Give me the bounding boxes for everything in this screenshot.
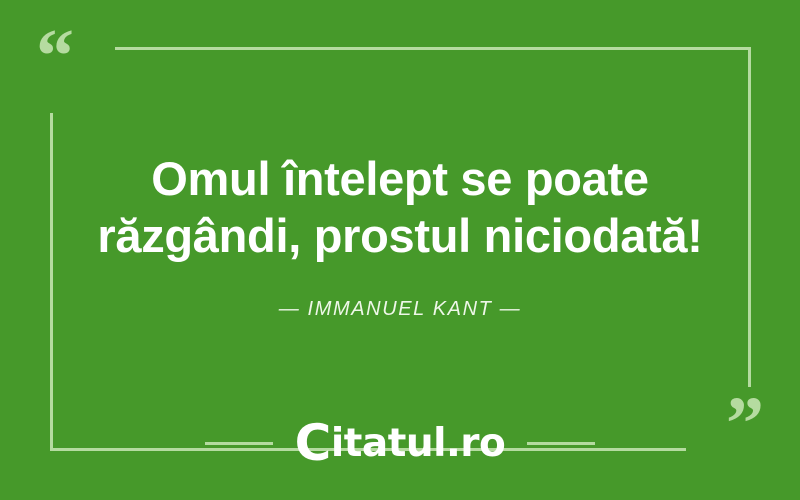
logo-rule-left [205, 442, 273, 445]
frame-top-line [115, 47, 751, 50]
quote-author: — IMMANUEL KANT — [80, 265, 720, 321]
quote-body: Omul întelept se poate răzgândi, prostul… [80, 150, 720, 321]
quote-text: Omul întelept se poate răzgândi, prostul… [80, 150, 720, 265]
frame-right-line [748, 47, 751, 387]
frame-left-line [50, 113, 53, 451]
quote-text-line-2: răzgândi, prostul niciodată! [97, 209, 702, 262]
logo-rest: itatul.ro [331, 421, 505, 466]
footer-logo: Citatul.ro [0, 424, 800, 463]
logo-initial: C [295, 414, 331, 472]
site-logo[interactable]: Citatul.ro [295, 424, 506, 463]
open-quote-icon: “ [36, 18, 74, 94]
logo-rule-right [527, 442, 595, 445]
quote-card: “ ” Omul întelept se poate răzgândi, pro… [0, 0, 800, 500]
quote-text-line-1: Omul întelept se poate [151, 152, 648, 205]
